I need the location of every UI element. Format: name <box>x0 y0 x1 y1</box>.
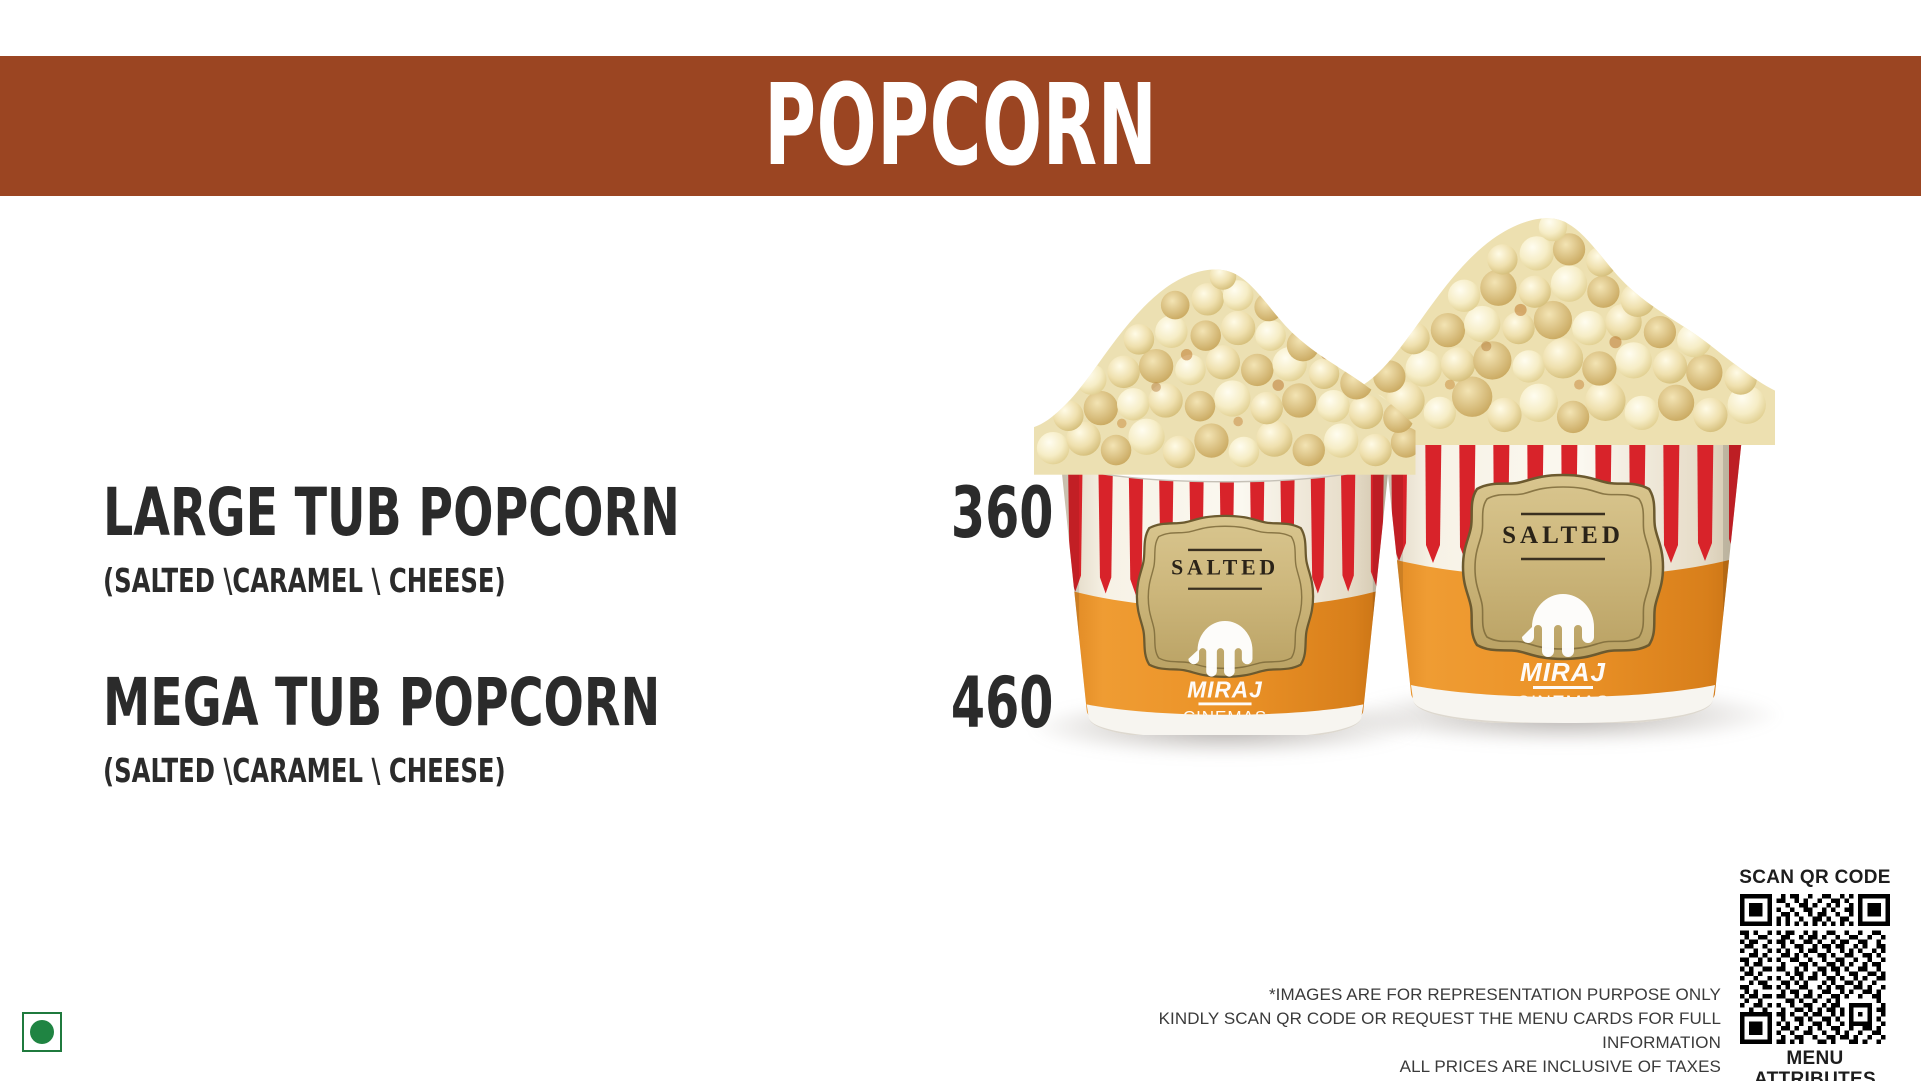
menu-item-subtitle: (SALTED \CARAMEL \ CHEESE) <box>103 564 506 597</box>
disclaimer-line-1: *IMAGES ARE FOR REPRESENTATION PURPOSE O… <box>1101 983 1721 1007</box>
popcorn-tub-right: SALTED MIRAJ CINEMAS ENTERTAINMENT REDEF… <box>1363 213 1763 723</box>
brand-name-text: MIRAJ <box>1187 677 1263 703</box>
brand-name-text: MIRAJ <box>1520 657 1606 687</box>
page-title: POPCORN <box>764 70 1157 182</box>
qr-block[interactable]: SCAN QR CODE <box>1730 868 1900 1081</box>
disclaimer-line-3: ALL PRICES ARE INCLUSIVE OF TAXES <box>1101 1055 1721 1079</box>
qr-caption-top: SCAN QR CODE <box>1730 868 1900 889</box>
menu-board: POPCORN LARGE TUB POPCORN (SALTED \CARAM… <box>0 0 1921 1081</box>
popcorn-tub-left: SALTED MIRAJ CINEMAS ENTERTAINMENT REDEF… <box>1045 265 1405 735</box>
qr-caption-bottom: MENU ATTRIBUTES <box>1730 1049 1900 1081</box>
menu-item-subtitle: (SALTED \CARAMEL \ CHEESE) <box>103 754 506 787</box>
menu-list: LARGE TUB POPCORN (SALTED \CARAMEL \ CHE… <box>103 480 1053 860</box>
tub-label-text: SALTED <box>1502 522 1624 549</box>
menu-item-price: 360 <box>950 478 1053 548</box>
qr-code-image[interactable] <box>1740 894 1890 1044</box>
veg-mark-dot <box>30 1020 54 1044</box>
menu-item-name: LARGE TUB POPCORN <box>103 480 680 546</box>
veg-mark-icon <box>22 1012 62 1052</box>
popcorn-mound-icon <box>1034 265 1416 475</box>
tub-body-left: SALTED MIRAJ CINEMAS ENTERTAINMENT REDEF… <box>1045 441 1405 735</box>
tub-label-text: SALTED <box>1171 556 1279 580</box>
disclaimer-line-2: KINDLY SCAN QR CODE OR REQUEST THE MENU … <box>1101 1007 1721 1055</box>
disclaimer-block: *IMAGES ARE FOR REPRESENTATION PURPOSE O… <box>1101 983 1721 1080</box>
menu-item-row[interactable]: MEGA TUB POPCORN (SALTED \CARAMEL \ CHEE… <box>103 670 1053 860</box>
menu-item-row[interactable]: LARGE TUB POPCORN (SALTED \CARAMEL \ CHE… <box>103 480 1053 670</box>
product-image: SALTED MIRAJ CINEMAS ENTERTAINMENT REDEF… <box>1045 195 1865 855</box>
header-banner: POPCORN <box>0 56 1921 196</box>
menu-item-name: MEGA TUB POPCORN <box>103 670 660 736</box>
